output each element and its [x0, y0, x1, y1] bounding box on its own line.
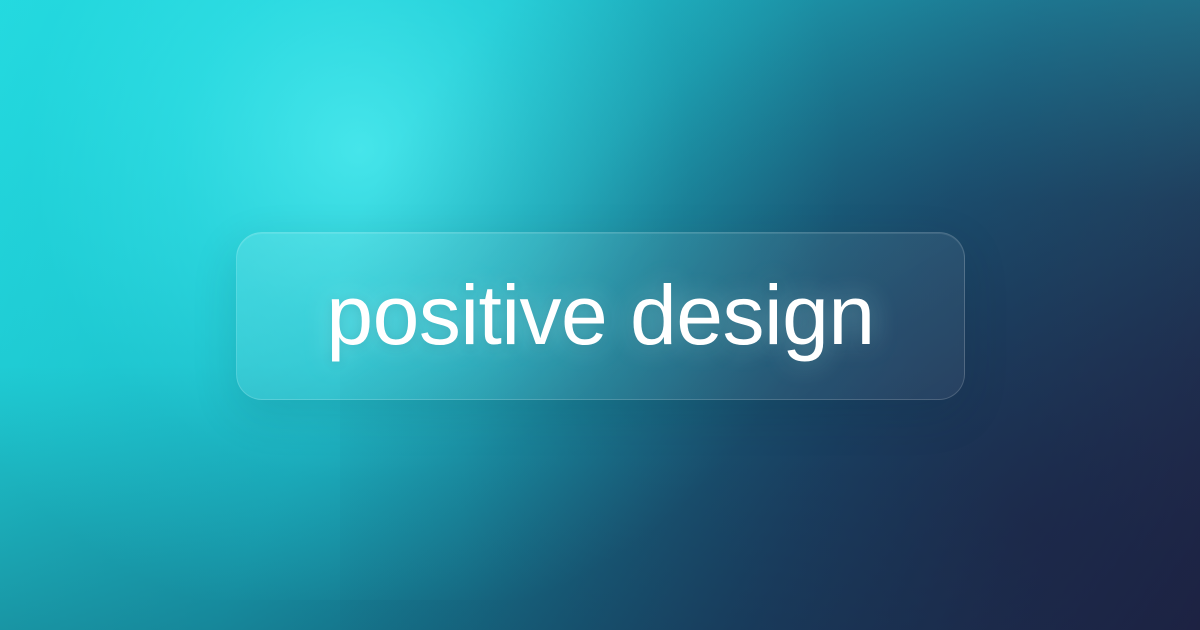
glass-card-panel: positive design [236, 232, 965, 400]
og-image-canvas: positive design [0, 0, 1200, 630]
card-title-text: positive design [326, 273, 874, 357]
